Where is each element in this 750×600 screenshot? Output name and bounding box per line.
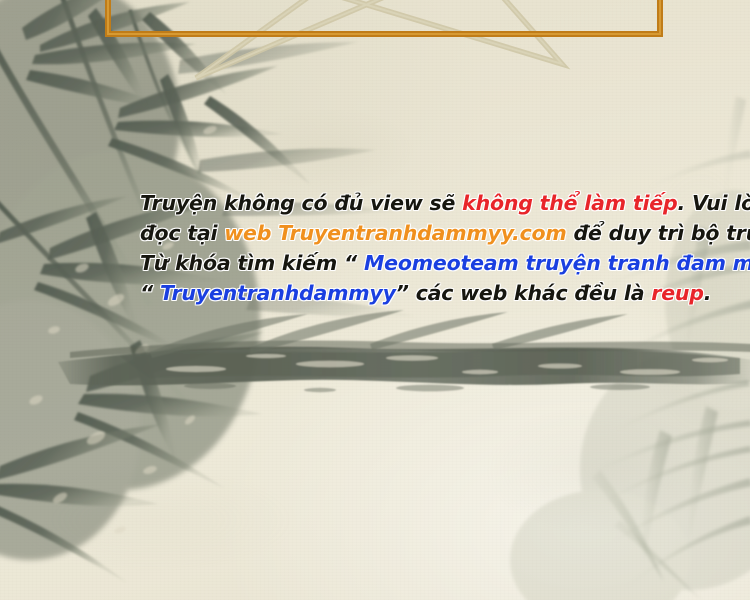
notice-segment-highlight-red: không thể làm tiếp xyxy=(462,191,677,215)
notice-line-2: đọc tại web Truyentranhdammyy.com để duy… xyxy=(140,218,740,248)
notice-segment-website-orange: web Truyentranhdammyy.com xyxy=(224,221,566,245)
notice-line-1: Truyện không có đủ view sẽ không thể làm… xyxy=(140,188,740,218)
notice-segment-keyword-blue: Truyentranhdammyy xyxy=(160,281,396,305)
comic-page: Truyện không có đủ view sẽ không thể làm… xyxy=(0,0,750,600)
tan-quadrilateral-outline xyxy=(196,0,562,78)
notice-segment: để duy trì bộ truyện. xyxy=(567,221,750,245)
notice-segment: Từ khóa tìm kiếm “ xyxy=(140,251,364,275)
notice-segment-keyword-blue: Meomeoteam truyện tranh đam mỹ xyxy=(364,251,750,275)
orange-rectangle-frame xyxy=(108,0,660,34)
notice-line-4: “ Truyentranhdammyy” các web khác đều là… xyxy=(140,278,740,308)
notice-segment: . xyxy=(704,281,712,305)
notice-segment: . Vui lòng xyxy=(677,191,750,215)
notice-segment: đọc tại xyxy=(140,221,224,245)
notice-segment: Truyện không có đủ view sẽ xyxy=(140,191,462,215)
notice-text-block: Truyện không có đủ view sẽ không thể làm… xyxy=(140,188,740,308)
notice-segment-highlight-red: reup xyxy=(651,281,703,305)
notice-segment: “ xyxy=(140,281,160,305)
notice-segment: ” các web khác đều là xyxy=(396,281,652,305)
notice-line-3: Từ khóa tìm kiếm “ Meomeoteam truyện tra… xyxy=(140,248,740,278)
